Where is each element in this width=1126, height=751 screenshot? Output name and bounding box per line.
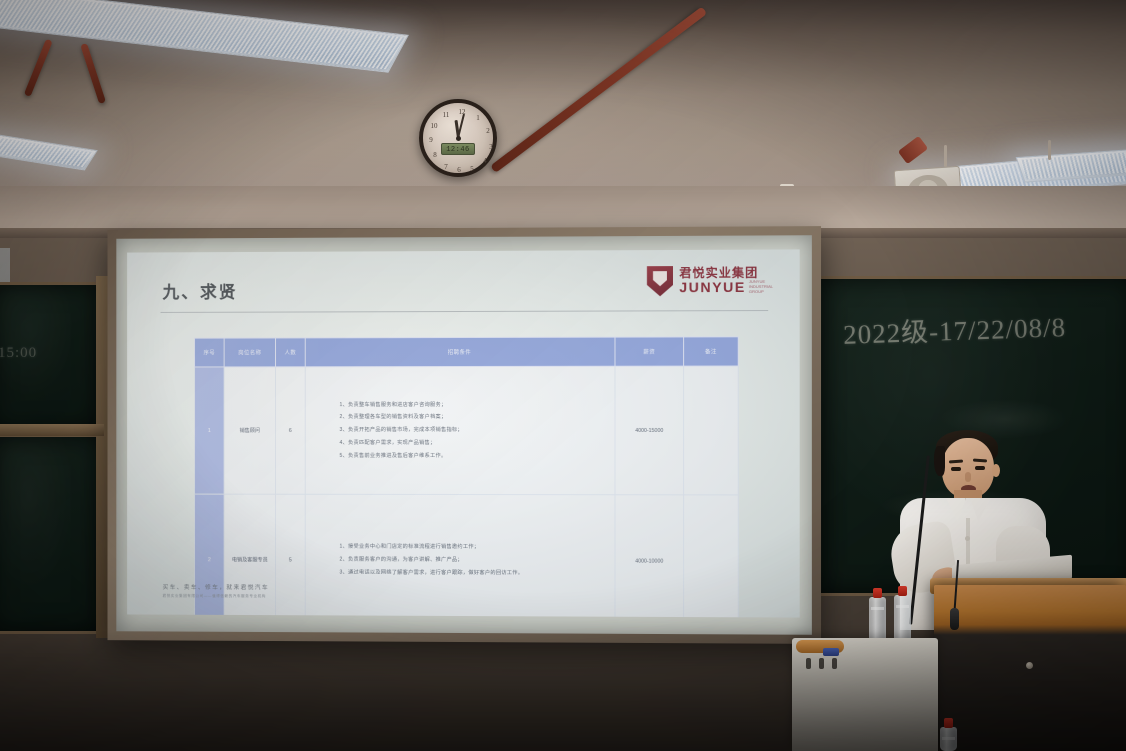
shirt-button [965,536,970,541]
clock-digital-display: 12:46 [441,143,475,155]
cabinet-slots [806,658,837,669]
clock-numeral: 8 [430,151,440,159]
cell-salary: 4000-10000 [615,495,684,618]
cabinet-slot [832,658,837,669]
slide-footer: 买车、卖车、修车，就来君悦汽车 君悦实业集团有限公司——值得信赖的汽车服务专业机… [163,582,270,599]
projection-screen: 九、求贤 君悦实业集团 JUNYUE JUNYUE INDUSTRIAL GRO… [116,235,812,635]
requirement-line: 1、接受业务中心和门店定的标准流程进行销售邀约工作； [339,541,614,555]
cell-note [684,366,739,495]
shield-logo-icon [647,266,673,296]
hair-side [934,446,945,476]
clock-numeral: 1 [473,114,483,122]
clock-center-pin [456,136,461,141]
column-header-salary: 薪资 [615,337,684,366]
clock-numeral: 10 [429,122,439,130]
nose [965,472,971,482]
lamp-bracket [944,145,947,167]
cell-salary: 4000-15000 [615,366,684,495]
clock-numeral: 3 [486,143,496,151]
chalk-text: 15:00 [0,345,37,362]
water-bottle [940,727,957,751]
chalk-text-date: 2022级-17/22/08/8 [842,305,1066,352]
company-logo: 君悦实业集团 JUNYUE JUNYUE INDUSTRIAL GROUP [647,266,777,297]
footer-subtitle: 君悦实业集团有限公司——值得信赖的汽车服务专业机构 [163,594,270,599]
blackboard-trim [0,424,104,436]
clock-numeral: 5 [467,165,477,173]
brand-name-en: JUNYUE [679,280,746,295]
blue-marker-object [823,648,839,656]
classroom-photo-scene: 12 1 2 3 4 5 6 7 8 9 10 11 12:46 15:00 2… [0,0,1126,751]
brand-text: 君悦实业集团 JUNYUE JUNYUE INDUSTRIAL GROUP [679,267,777,295]
table-header-row: 序号 岗位名称 人数 招聘条件 薪资 备注 [195,337,739,367]
blackboard-left-upper: 15:00 [0,282,102,432]
cell-headcount: 5 [276,494,306,617]
requirement-line: 1、负责整车销售服务和进店客户咨询服务； [339,399,614,412]
column-header-note: 备注 [684,337,739,366]
column-header-index: 序号 [195,338,225,367]
clock-minute-hand [457,114,465,139]
microphone-head [950,608,959,630]
lamp-bracket [1048,140,1051,160]
brand-en-row: JUNYUE JUNYUE INDUSTRIAL GROUP [679,280,777,295]
cabinet-slot [819,658,824,669]
requirement-line: 3、通过电话以及网络了解客户需求，进行客户跟踪，做好客户的回访工作。 [339,566,614,580]
slide-title: 九、求贤 [163,278,238,303]
column-header-headcount: 人数 [276,338,306,367]
table-row: 2 电销及客服专员 5 1、接受业务中心和门店定的标准流程进行销售邀约工作； 2… [195,494,739,617]
requirement-line: 3、负责开拓产品的销售市场，完成本项销售指标； [339,424,614,437]
footer-tagline: 买车、卖车、修车，就来君悦汽车 [163,582,270,591]
wall-clock: 12 1 2 3 4 5 6 7 8 9 10 11 12:46 [419,99,497,177]
slide-title-rule [161,310,769,313]
projection-screen-frame: 九、求贤 君悦实业集团 JUNYUE JUNYUE INDUSTRIAL GRO… [107,226,821,644]
column-header-requirements: 招聘条件 [305,337,615,367]
cell-headcount: 6 [276,367,306,494]
cell-requirements: 1、接受业务中心和门店定的标准流程进行销售邀约工作； 2、负责服务客户的沟通，为… [305,494,615,617]
requirement-line: 2、负责整理各车型的销售资料及客户档案； [339,411,614,424]
eye-left [951,467,961,471]
cell-index: 1 [195,367,225,494]
cell-position: 销售顾问 [224,367,275,494]
requirement-line: 2、负责服务客户的沟通，为客户讲解、推广产品； [339,554,614,568]
av-equipment-cabinet [792,638,938,751]
table-row: 1 销售顾问 6 1、负责整车销售服务和进店客户咨询服务； 2、负责整理各车型的… [195,366,739,495]
cell-index: 2 [195,494,225,617]
presentation-slide: 九、求贤 君悦实业集团 JUNYUE JUNYUE INDUSTRIAL GRO… [127,249,800,617]
brand-subtitle-en: JUNYUE INDUSTRIAL GROUP [749,280,777,295]
clock-numeral: 7 [441,163,451,171]
clock-numeral: 6 [454,166,464,174]
ear [992,464,1000,477]
clock-numeral: 9 [426,136,436,144]
clock-numeral: 4 [480,157,490,165]
recruitment-table: 序号 岗位名称 人数 招聘条件 薪资 备注 1 销售顾问 6 [194,336,739,617]
requirement-line: 4、负责匹配客户需求，实现产品销售； [339,437,614,450]
cell-note [684,495,739,618]
column-header-position: 岗位名称 [224,338,275,367]
blackboard-left-lower [0,434,102,634]
clock-numeral: 2 [483,127,493,135]
requirement-line: 5、负责售前业务推进及售后客户维系工作。 [339,450,614,463]
clock-numeral: 11 [441,111,451,119]
cabinet-slot [806,658,811,669]
cell-requirements: 1、负责整车销售服务和进店客户咨询服务； 2、负责整理各车型的销售资料及客户档案… [305,366,615,495]
eye-right [975,466,985,470]
podium-knob [1026,662,1033,669]
blackboard-trim [96,276,108,638]
